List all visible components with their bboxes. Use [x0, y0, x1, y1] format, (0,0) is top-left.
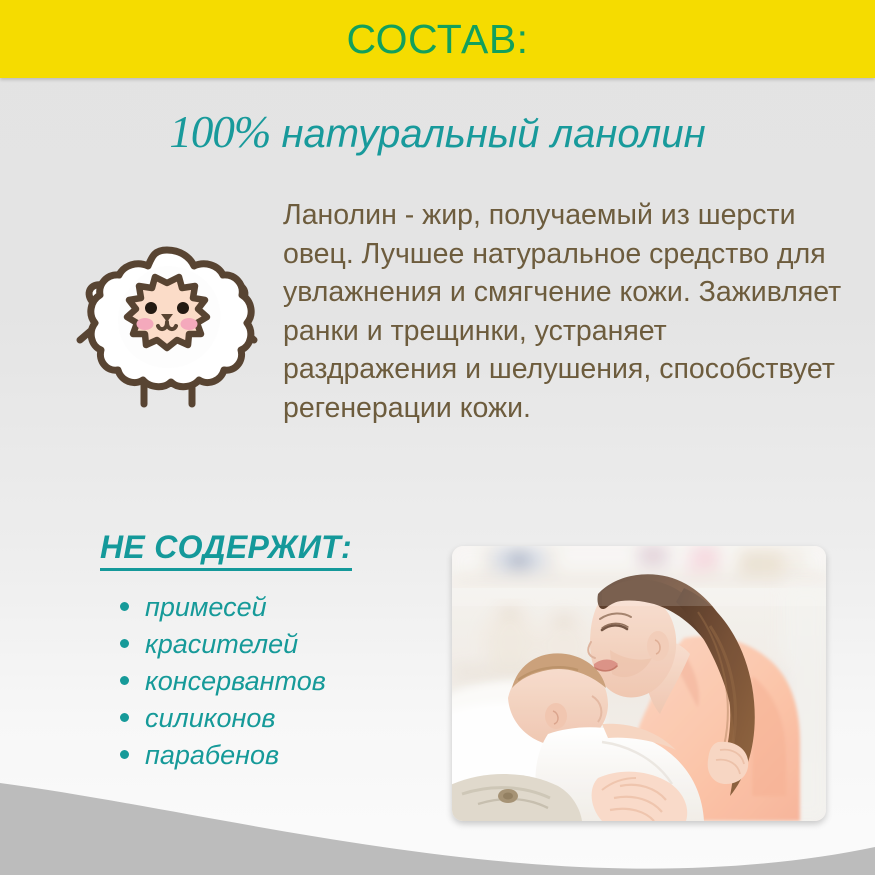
bullet-icon — [120, 750, 129, 759]
list-item: красителей — [100, 626, 430, 663]
list-item: парабенов — [100, 737, 430, 774]
list-item: силиконов — [100, 700, 430, 737]
page-title: СОСТАВ: — [0, 13, 875, 65]
mother-kissing-baby-photo — [452, 546, 826, 821]
lead-percent: 100% — [169, 107, 270, 157]
sheep-icon — [72, 236, 262, 416]
list-item: консервантов — [100, 663, 430, 700]
bullet-icon — [120, 602, 129, 611]
not-contains-title: НЕ СОДЕРЖИТ: — [100, 528, 352, 571]
list-item: примесей — [100, 589, 430, 626]
composition-infographic: СОСТАВ: 100% натуральный ланолин — [0, 0, 875, 875]
not-contains-list: примесей красителей консервантов силикон… — [100, 589, 430, 774]
bullet-icon — [120, 676, 129, 685]
bullet-icon — [120, 713, 129, 722]
list-item-label: парабенов — [145, 740, 279, 770]
list-item-label: красителей — [145, 629, 298, 659]
lead-heading: 100% натуральный ланолин — [0, 104, 875, 162]
not-contains-section: НЕ СОДЕРЖИТ: примесей красителей консерв… — [100, 528, 430, 774]
list-item-label: консервантов — [145, 666, 326, 696]
bullet-icon — [120, 639, 129, 648]
list-item-label: примесей — [145, 592, 267, 622]
lead-text: натуральный ланолин — [270, 112, 705, 156]
description-text: Ланолин - жир, получаемый из шерсти овец… — [283, 196, 845, 427]
header-band: СОСТАВ: — [0, 0, 875, 78]
list-item-label: силиконов — [145, 703, 276, 733]
